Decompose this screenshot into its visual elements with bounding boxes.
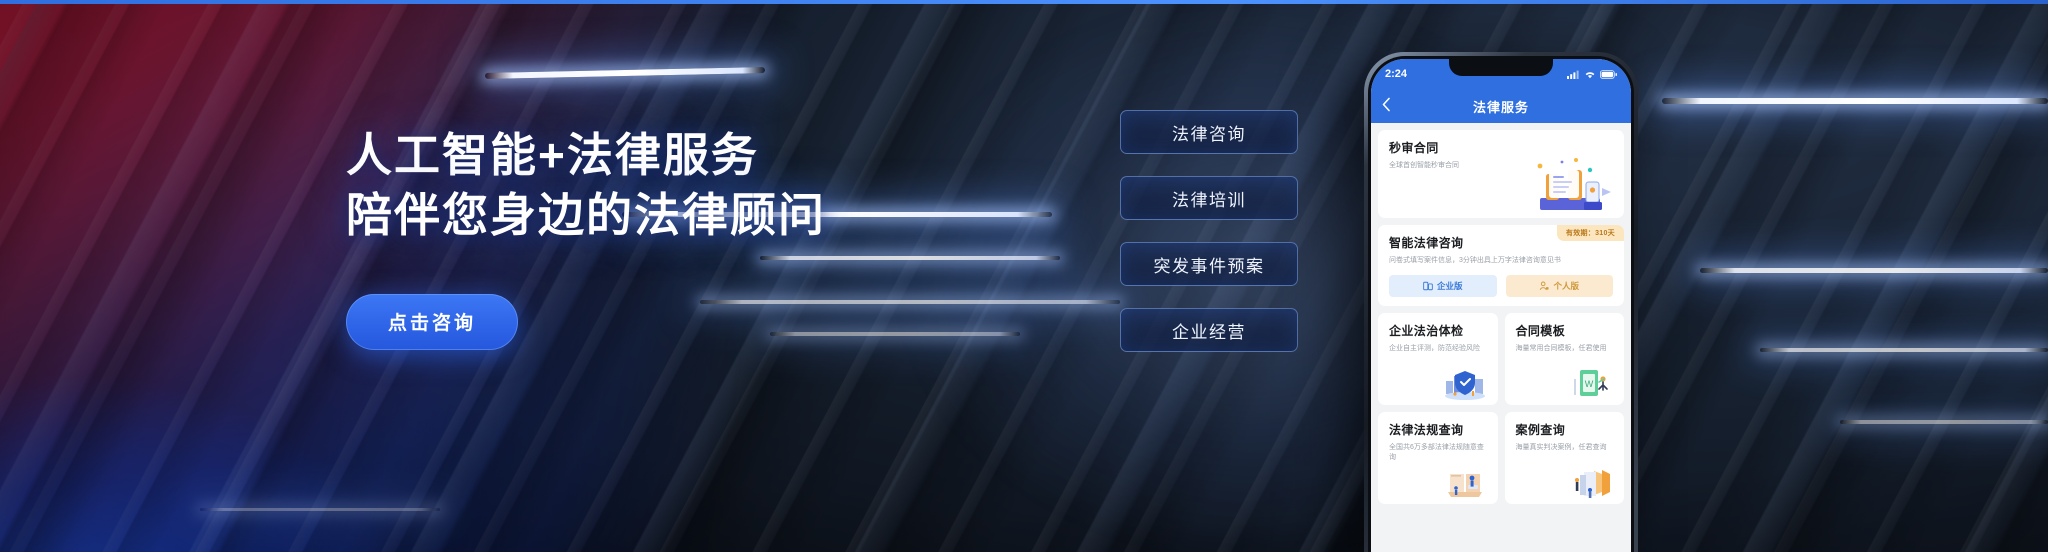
- wifi-icon: [1584, 70, 1596, 79]
- card-title: 案例查询: [1516, 421, 1614, 438]
- card-enterprise-legal-checkup[interactable]: 企业法治体检 企业自主评测，防范经验风险: [1378, 313, 1498, 405]
- archive-files-illustration: [1568, 466, 1614, 500]
- phone-screen: 2:24: [1371, 59, 1631, 552]
- consult-cta-button[interactable]: 点击咨询: [346, 294, 518, 350]
- light-streak: [1700, 268, 2048, 273]
- card-law-regulation-search[interactable]: 法律法规查询 全国共6万多部法律法规随意查询: [1378, 412, 1498, 504]
- card-title: 企业法治体检: [1389, 322, 1487, 339]
- phone-mockup: 2:24: [1364, 52, 1638, 552]
- card-subtitle: 海量常用合同模板，任君使用: [1516, 344, 1614, 354]
- service-grid-row: 法律法规查询 全国共6万多部法律法规随意查询: [1378, 412, 1624, 504]
- card-title: 秒审合同: [1389, 139, 1613, 156]
- svg-text:W: W: [1585, 379, 1594, 389]
- card-contract-review[interactable]: 秒审合同 全球首创智能秒审合同: [1378, 130, 1624, 218]
- nav-pill-legal-consultation[interactable]: 法律咨询: [1120, 110, 1298, 154]
- card-smart-legal-consultation[interactable]: 有效期：310天 智能法律咨询 问卷式填写案件信息，3分钟出具上万字法律咨询意见…: [1378, 225, 1624, 306]
- document-template-illustration: W: [1568, 367, 1614, 401]
- card-case-search[interactable]: 案例查询 海量真实判决案例，任君查询: [1505, 412, 1625, 504]
- card-subtitle: 海量真实判决案例，任君查询: [1516, 443, 1614, 453]
- headline-line-2: 陪伴您身边的法律顾问: [346, 186, 826, 246]
- background-vignette: [0, 0, 2048, 552]
- validity-badge: 有效期：310天: [1557, 225, 1624, 241]
- status-time: 2:24: [1385, 68, 1407, 80]
- nav-pill-enterprise-operation[interactable]: 企业经营: [1120, 308, 1298, 352]
- nav-pill-list: 法律咨询 法律培训 突发事件预案 企业经营: [1120, 110, 1298, 352]
- top-accent-line: [0, 0, 2048, 4]
- shield-city-illustration: [1442, 367, 1488, 401]
- card-subtitle: 全国共6万多部法律法规随意查询: [1389, 443, 1487, 463]
- card-title: 合同模板: [1516, 322, 1614, 339]
- nav-pill-legal-training[interactable]: 法律培训: [1120, 176, 1298, 220]
- hero-copy-block: 人工智能+法律服务 陪伴您身边的法律顾问 点击咨询: [346, 126, 826, 350]
- phone-bezel: 2:24: [1368, 56, 1634, 552]
- light-streak: [1760, 348, 2048, 352]
- segment-personal-version[interactable]: 个人版: [1506, 275, 1614, 297]
- chevron-left-icon: [1382, 98, 1390, 112]
- card-title: 法律法规查询: [1389, 421, 1487, 438]
- version-selector: 企业版 个人版: [1389, 275, 1613, 297]
- cellular-signal-icon: [1567, 70, 1580, 79]
- phone-notch: [1449, 59, 1553, 76]
- app-content: 秒审合同 全球首创智能秒审合同: [1371, 123, 1631, 511]
- back-button[interactable]: [1382, 98, 1390, 115]
- contract-review-illustration: [1524, 156, 1616, 214]
- open-book-illustration: [1442, 466, 1488, 500]
- segment-label: 企业版: [1437, 280, 1463, 292]
- battery-icon: [1600, 70, 1617, 79]
- app-navbar: 法律服务: [1371, 89, 1631, 123]
- status-indicators: [1567, 70, 1617, 79]
- nav-pill-emergency-plan[interactable]: 突发事件预案: [1120, 242, 1298, 286]
- service-grid-row: 企业法治体检 企业自主评测，防范经验风险: [1378, 313, 1624, 405]
- card-subtitle: 问卷式填写案件信息，3分钟出具上万字法律咨询意见书: [1389, 256, 1613, 266]
- light-streak: [1840, 420, 2048, 424]
- card-subtitle: 企业自主评测，防范经验风险: [1389, 344, 1487, 354]
- person-icon: [1539, 281, 1549, 291]
- app-title: 法律服务: [1473, 97, 1529, 116]
- headline-line-1: 人工智能+法律服务: [346, 126, 826, 186]
- light-streak: [1662, 98, 2048, 104]
- card-contract-templates[interactable]: 合同模板 海量常用合同模板，任君使用 W: [1505, 313, 1625, 405]
- building-icon: [1423, 281, 1433, 291]
- segment-enterprise-version[interactable]: 企业版: [1389, 275, 1497, 297]
- light-streak: [200, 508, 440, 511]
- segment-label: 个人版: [1553, 280, 1579, 292]
- hero-banner: 人工智能+法律服务 陪伴您身边的法律顾问 点击咨询 法律咨询 法律培训 突发事件…: [0, 0, 2048, 552]
